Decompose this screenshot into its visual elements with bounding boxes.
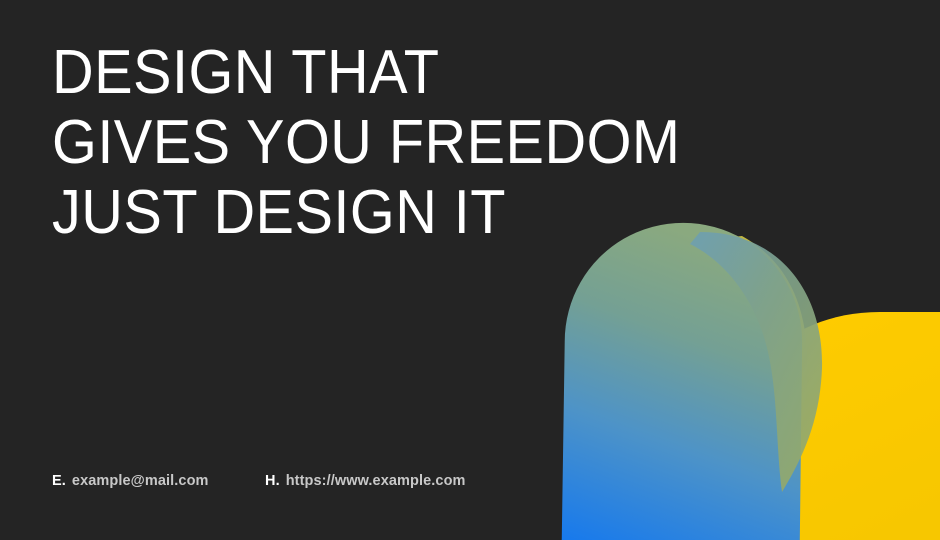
headline-line-1: DESIGN THAT	[52, 38, 680, 108]
slide-canvas: DESIGN THAT GIVES YOU FREEDOM JUST DESIG…	[0, 0, 940, 540]
contact-email[interactable]: E. example@mail.com	[52, 473, 265, 489]
footer-contact-bar: E. example@mail.com H. https://www.examp…	[52, 473, 466, 489]
contact-email-value[interactable]: example@mail.com	[72, 473, 209, 489]
contact-email-prefix: E.	[52, 473, 66, 489]
contact-website-prefix: H.	[265, 473, 280, 489]
headline-line-2: GIVES YOU FREEDOM	[52, 108, 680, 178]
headline-line-3: JUST DESIGN IT	[52, 178, 680, 248]
contact-website[interactable]: H. https://www.example.com	[265, 473, 466, 489]
contact-website-value[interactable]: https://www.example.com	[286, 473, 466, 489]
page-title: DESIGN THAT GIVES YOU FREEDOM JUST DESIG…	[52, 38, 728, 248]
